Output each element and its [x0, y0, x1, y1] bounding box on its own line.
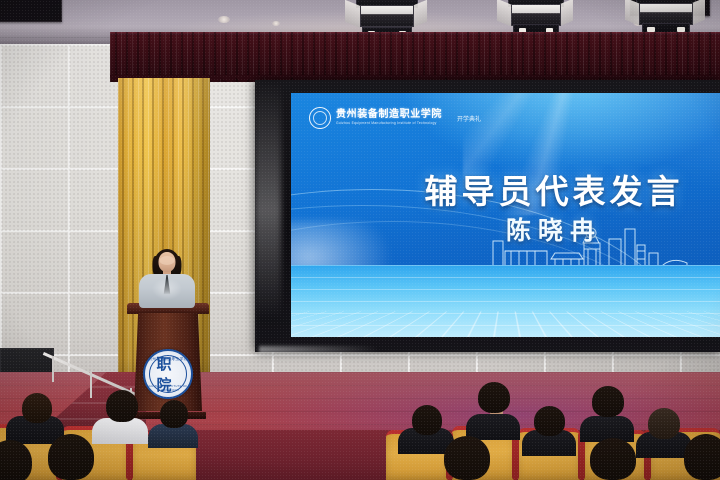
audience-head: [592, 386, 624, 417]
slide-floor-gradient: [291, 265, 720, 337]
audience-head: [590, 438, 636, 480]
bezel-sheen: [255, 80, 281, 352]
institution-name-en: Guizhou Equipment Manufacturing Institut…: [336, 122, 442, 125]
stage-light-fixture: [356, 0, 416, 31]
presenter-highlight: [152, 278, 182, 300]
presenter: [131, 252, 203, 308]
slide-speaker-name: 陈晓冉: [404, 219, 704, 244]
light-body: [511, 4, 561, 26]
audience-head: [106, 390, 138, 422]
audience-head: [478, 382, 510, 413]
audience-head: [160, 400, 188, 428]
handrail-post: [52, 356, 54, 382]
light-body: [639, 3, 692, 25]
light-body: [360, 5, 415, 27]
institution-name-cn: 贵州装备制造职业学院: [336, 110, 442, 120]
presenter-face: [160, 256, 175, 265]
audience-head: [684, 434, 720, 480]
bezel-sheen: [259, 346, 379, 353]
slide-title: 辅导员代表发言: [404, 175, 704, 208]
ceiling-monitor-icon: [0, 0, 62, 22]
stage-valance: [110, 32, 720, 82]
audience-head: [412, 405, 442, 435]
institution-seal-icon: [309, 107, 331, 129]
ceiling-downlight-icon: [218, 16, 230, 23]
stage-light-fixture: [636, 0, 694, 27]
auditorium-photo: 贵州装备制造职业学院 Guizhou Equipment Manufacturi…: [0, 0, 720, 480]
audience-head: [534, 406, 565, 436]
institution-logo: 贵州装备制造职业学院 Guizhou Equipment Manufacturi…: [309, 107, 481, 129]
stage-light-fixture: [508, 0, 562, 28]
audience-head: [22, 393, 52, 423]
podium-emblem-icon: 贵州装备制造职业学院 职院 GUIZHOU INSTITUTE OF TECHN…: [143, 349, 193, 399]
presentation-slide[interactable]: 贵州装备制造职业学院 Guizhou Equipment Manufacturi…: [291, 93, 720, 337]
handrail-post: [90, 372, 92, 398]
ceiling-downlight-icon: [272, 21, 280, 26]
slide-title-block: 辅导员代表发言 陈晓冉: [404, 175, 704, 244]
institution-logo-text: 贵州装备制造职业学院 Guizhou Equipment Manufacturi…: [336, 110, 442, 125]
emblem-arc-bottom: GUIZHOU INSTITUTE OF TECHNOLOGY: [145, 384, 191, 392]
institution-subtitle: 开学典礼: [457, 114, 481, 123]
audience-head: [48, 434, 94, 480]
audience-head: [648, 408, 680, 439]
audience-head: [444, 436, 490, 480]
led-screen-frame: 贵州装备制造职业学院 Guizhou Equipment Manufacturi…: [255, 80, 720, 352]
